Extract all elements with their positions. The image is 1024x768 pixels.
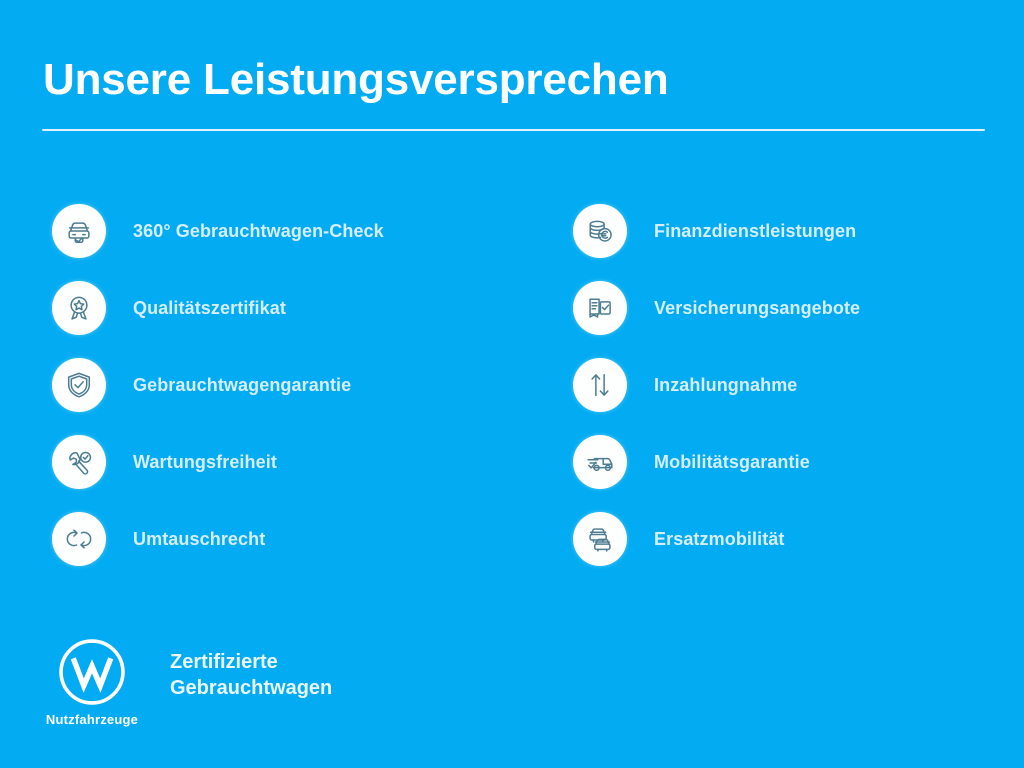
document-check-icon (585, 293, 615, 323)
van-motion-icon (585, 447, 615, 477)
coins-euro-icon (585, 216, 615, 246)
brand-logo-group: Nutzfahrzeuge (37, 636, 147, 727)
volkswagen-logo-icon (56, 636, 128, 708)
benefit-item[interactable]: Versicherungsangebote (573, 281, 860, 358)
up-down-arrows-icon (585, 370, 615, 400)
page-title: Unsere Leistungsversprechen (43, 54, 669, 106)
benefit-label: Umtauschrecht (133, 512, 265, 566)
benefit-item[interactable]: Ersatzmobilität (573, 512, 860, 589)
benefit-icon-badge (52, 512, 106, 566)
benefit-item[interactable]: Finanzdienstleistungen (573, 204, 860, 281)
benefit-label: Inzahlungnahme (654, 358, 797, 412)
benefit-label: Wartungsfreiheit (133, 435, 277, 489)
benefit-item[interactable]: Gebrauchtwagengarantie (52, 358, 384, 435)
brand-footer: Nutzfahrzeuge Zertifizierte Gebrauchtwag… (0, 636, 1024, 746)
brand-claim-line-2: Gebrauchtwagen (170, 675, 332, 701)
benefits-left-column: 360° Gebrauchtwagen-Check Qualitätszerti… (52, 204, 384, 589)
exchange-arrows-icon (64, 524, 94, 554)
benefit-item[interactable]: Inzahlungnahme (573, 358, 860, 435)
benefit-label: Mobilitätsgarantie (654, 435, 810, 489)
award-rosette-icon (64, 293, 94, 323)
benefit-icon-badge (573, 358, 627, 412)
slide-root: Unsere Leistungsversprechen 360° G (0, 0, 1024, 768)
brand-claim-line-1: Zertifizierte (170, 649, 332, 675)
benefit-item[interactable]: Wartungsfreiheit (52, 435, 384, 512)
benefit-item[interactable]: Umtauschrecht (52, 512, 384, 589)
brand-logo-subtitle: Nutzfahrzeuge (37, 712, 147, 727)
wrench-check-icon (64, 447, 94, 477)
benefit-label: Versicherungsangebote (654, 281, 860, 335)
benefit-label: 360° Gebrauchtwagen-Check (133, 204, 384, 258)
benefit-item[interactable]: Qualitätszertifikat (52, 281, 384, 358)
benefit-icon-badge (52, 435, 106, 489)
benefit-label: Gebrauchtwagengarantie (133, 358, 351, 412)
benefit-icon-badge (573, 435, 627, 489)
benefit-item[interactable]: Mobilitätsgarantie (573, 435, 860, 512)
benefit-icon-badge (52, 358, 106, 412)
two-cars-icon (585, 524, 615, 554)
benefit-icon-badge (52, 281, 106, 335)
car-check-icon (64, 216, 94, 246)
benefit-icon-badge (573, 512, 627, 566)
benefit-label: Ersatzmobilität (654, 512, 785, 566)
shield-check-icon (64, 370, 94, 400)
benefit-icon-badge (573, 281, 627, 335)
benefits-right-column: Finanzdienstleistungen Versicherungsange… (573, 204, 860, 589)
benefit-label: Qualitätszertifikat (133, 281, 286, 335)
benefit-item[interactable]: 360° Gebrauchtwagen-Check (52, 204, 384, 281)
title-divider (42, 129, 985, 131)
brand-claim: Zertifizierte Gebrauchtwagen (170, 649, 332, 701)
benefit-icon-badge (52, 204, 106, 258)
benefit-label: Finanzdienstleistungen (654, 204, 856, 258)
benefit-icon-badge (573, 204, 627, 258)
